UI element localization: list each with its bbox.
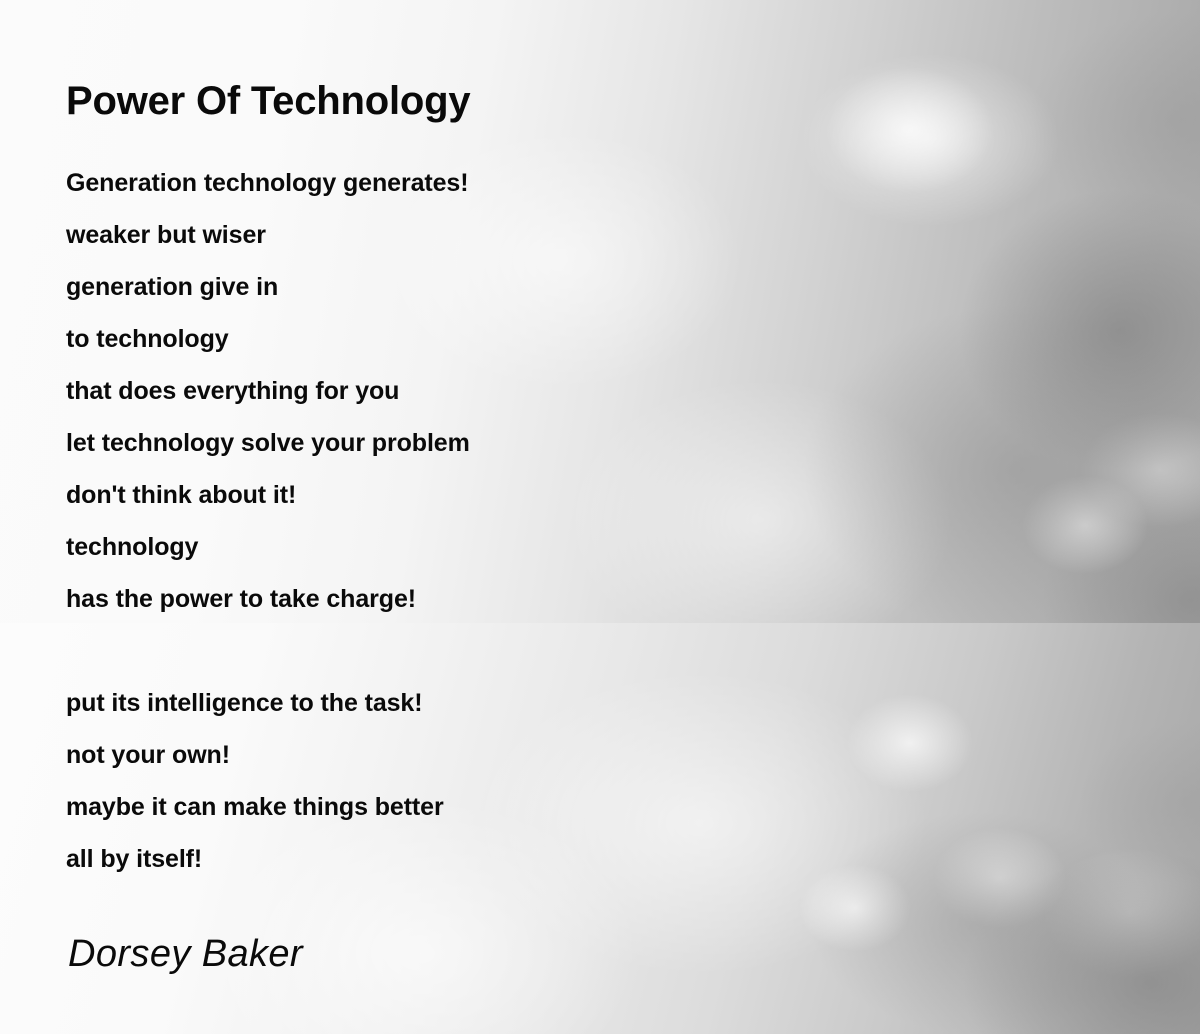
poem-line: generation give in (66, 261, 470, 313)
poem-card: Power Of Technology Generation technolog… (0, 0, 1200, 1034)
poem-line: has the power to take charge! (66, 573, 470, 625)
poem-line: Generation technology generates! (66, 157, 470, 209)
poem-stanza-1: Generation technology generates! weaker … (66, 157, 470, 625)
poem-line: weaker but wiser (66, 209, 470, 261)
poem-content: Power Of Technology Generation technolog… (0, 0, 1200, 1034)
poem-author: Dorsey Baker (68, 933, 303, 976)
poem-line: don't think about it! (66, 469, 470, 521)
poem-line: to technology (66, 313, 470, 365)
poem-title: Power Of Technology (66, 79, 470, 124)
poem-line: technology (66, 521, 470, 573)
poem-line: maybe it can make things better (66, 781, 444, 833)
poem-line: that does everything for you (66, 365, 470, 417)
poem-line: put its intelligence to the task! (66, 677, 444, 729)
poem-stanza-2: put its intelligence to the task! not yo… (66, 677, 444, 885)
poem-line: not your own! (66, 729, 444, 781)
poem-line: all by itself! (66, 833, 444, 885)
poem-line: let technology solve your problem (66, 417, 470, 469)
